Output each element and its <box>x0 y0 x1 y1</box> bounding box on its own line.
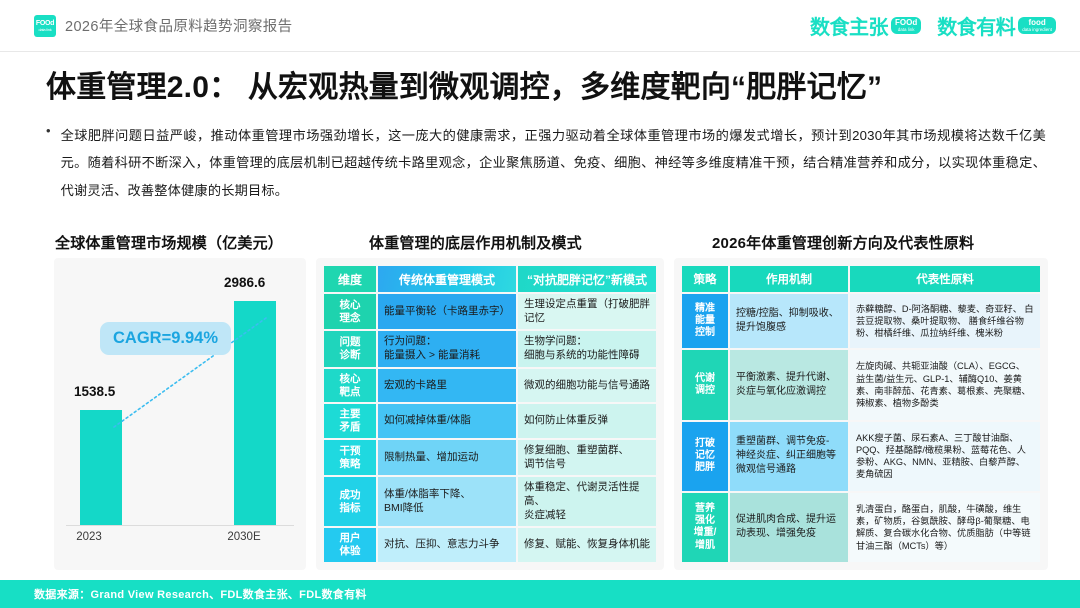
table-header-row: 策略 作用机制 代表性原料 <box>682 266 1040 292</box>
cell-mechanism: 重塑菌群、调节免疫-神经炎症、纠正细胞等微观信号通路 <box>730 422 848 491</box>
middle-table-section-title: 体重管理的底层作用机制及模式 <box>369 232 582 253</box>
col-header-mechanism: 作用机制 <box>730 266 848 292</box>
food-data-link-logo-icon: FOOd data link <box>34 15 56 37</box>
row-label-dimension: 主要矛盾 <box>324 404 376 438</box>
table-row: 问题诊断行为问题：能量摄入 > 能量消耗生物学问题：细胞与系统的功能性障碍 <box>324 331 656 366</box>
page-title: 体重管理2.0： 从宏观热量到微观调控，多维度靶向“肥胖记忆” <box>46 62 1046 106</box>
row-label-strategy: 打破记忆肥胖 <box>682 422 728 491</box>
mechanism-comparison-table: 维度 传统体重管理模式 “对抗肥胖记忆”新模式 核心理念能量平衡轮（卡路里赤字）… <box>322 264 658 564</box>
cell-new-mode: 体重稳定、代谢灵活性提高、炎症减轻 <box>518 477 656 526</box>
table-row: 打破记忆肥胖重塑菌群、调节免疫-神经炎症、纠正细胞等微观信号通路AKK瘦子菌、尿… <box>682 422 1040 491</box>
row-label-dimension: 用户体验 <box>324 528 376 562</box>
table-row: 营养强化增重/增肌促进肌肉合成、提升运动表现、增强免疫乳清蛋白，酪蛋白，肌酸，牛… <box>682 493 1040 562</box>
brand2-badge-icon: food data ingredient <box>1018 17 1056 35</box>
brand-left: FOOd data link 2026年全球食品原料趋势洞察报告 <box>34 15 293 37</box>
col-header-new-mode: “对抗肥胖记忆”新模式 <box>518 266 656 292</box>
bullet-marker: • <box>46 122 51 204</box>
bar-2030e <box>234 301 276 525</box>
row-label-dimension: 核心靶点 <box>324 369 376 403</box>
row-label-strategy: 精准能量控制 <box>682 294 728 348</box>
mechanism-comparison-table-panel: 维度 传统体重管理模式 “对抗肥胖记忆”新模式 核心理念能量平衡轮（卡路里赤字）… <box>316 258 664 570</box>
cell-traditional-mode: 对抗、压抑、意志力斗争 <box>378 528 516 562</box>
cell-traditional-mode: 体重/体脂率下降、BMI降低 <box>378 477 516 526</box>
table-row: 主要矛盾如何减掉体重/体脂如何防止体重反弹 <box>324 404 656 438</box>
table-row: 成功指标体重/体脂率下降、BMI降低体重稳定、代谢灵活性提高、炎症减轻 <box>324 477 656 526</box>
col-header-traditional: 传统体重管理模式 <box>378 266 516 292</box>
x-axis-line <box>66 525 294 526</box>
chart-section-title: 全球体重管理市场规模（亿美元） <box>55 232 283 253</box>
cagr-annotation-badge: CAGR=9.94% <box>100 322 231 355</box>
top-bar: FOOd data link 2026年全球食品原料趋势洞察报告 数食主张 FO… <box>0 0 1080 52</box>
cell-mechanism: 平衡激素、提升代谢、炎症与氧化应激调控 <box>730 350 848 419</box>
brand1-badge-icon: FOOd data link <box>891 17 921 35</box>
row-label-strategy: 代谢调控 <box>682 350 728 419</box>
cell-new-mode: 微观的细胞功能与信号通路 <box>518 369 656 403</box>
cell-new-mode: 如何防止体重反弹 <box>518 404 656 438</box>
bar-value-label-2023: 1538.5 <box>74 384 115 399</box>
brand2-text: 数食有料 <box>937 11 1015 40</box>
cell-traditional-mode: 能量平衡轮（卡路里赤字） <box>378 294 516 329</box>
chart-plot-area: 1538.5 2986.6 CAGR=9.94% <box>66 270 294 525</box>
cell-traditional-mode: 限制热量、增加运动 <box>378 440 516 475</box>
cell-ingredients: 左旋肉碱、共轭亚油酸（CLA）、EGCG、益生菌/益生元、GLP-1、辅酶Q10… <box>850 350 1040 419</box>
cell-mechanism: 促进肌肉合成、提升运动表现、增强免疫 <box>730 493 848 562</box>
cell-traditional-mode: 宏观的卡路里 <box>378 369 516 403</box>
cell-mechanism: 控糖/控脂、抑制吸收、提升饱腹感 <box>730 294 848 348</box>
data-source-text: 数据来源：Grand View Research、FDL数食主张、FDL数食有料 <box>34 586 367 602</box>
footer-bar: 数据来源：Grand View Research、FDL数食主张、FDL数食有料 <box>0 580 1080 608</box>
cell-new-mode: 修复细胞、重塑菌群、调节信号 <box>518 440 656 475</box>
col-header-ingredients: 代表性原料 <box>850 266 1040 292</box>
table-row: 干预策略限制热量、增加运动修复细胞、重塑菌群、调节信号 <box>324 440 656 475</box>
intro-block: • 全球肥胖问题日益严峻，推动体重管理市场强劲增长，这一庞大的健康需求，正强力驱… <box>46 122 1046 204</box>
x-tick-2030e: 2030E <box>220 531 268 543</box>
table-header-row: 维度 传统体重管理模式 “对抗肥胖记忆”新模式 <box>324 266 656 292</box>
row-label-dimension: 干预策略 <box>324 440 376 475</box>
right-table-section-title: 2026年体重管理创新方向及代表性原料 <box>712 232 974 253</box>
col-header-strategy: 策略 <box>682 266 728 292</box>
table-row: 代谢调控平衡激素、提升代谢、炎症与氧化应激调控左旋肉碱、共轭亚油酸（CLA）、E… <box>682 350 1040 419</box>
bar-value-label-2030e: 2986.6 <box>224 275 265 290</box>
brand1-text: 数食主张 <box>810 11 888 40</box>
report-title: 2026年全球食品原料趋势洞察报告 <box>65 15 293 36</box>
row-label-strategy: 营养强化增重/增肌 <box>682 493 728 562</box>
brand2-badge-line2: data ingredient <box>1022 28 1052 33</box>
row-label-dimension: 成功指标 <box>324 477 376 526</box>
cell-new-mode: 生理设定点重置（打破肥胖记忆 <box>518 294 656 329</box>
innovation-directions-table: 策略 作用机制 代表性原料 精准能量控制控糖/控脂、抑制吸收、提升饱腹感赤藓糖醇… <box>680 264 1042 564</box>
cell-ingredients: 乳清蛋白，酪蛋白，肌酸，牛磺酸，维生素，矿物质，谷氨酰胺、酵母β-葡聚糖、电解质… <box>850 493 1040 562</box>
table-row: 用户体验对抗、压抑、意志力斗争修复、赋能、恢复身体机能 <box>324 528 656 562</box>
cell-new-mode: 生物学问题：细胞与系统的功能性障碍 <box>518 331 656 366</box>
cell-new-mode: 修复、赋能、恢复身体机能 <box>518 528 656 562</box>
col-header-dimension: 维度 <box>324 266 376 292</box>
logo-badge-line1: FOOd <box>36 20 54 27</box>
cell-traditional-mode: 行为问题：能量摄入 > 能量消耗 <box>378 331 516 366</box>
brand-shushizhuzhang: 数食主张 FOOd data link <box>810 11 921 40</box>
row-label-dimension: 核心理念 <box>324 294 376 329</box>
x-tick-2023: 2023 <box>66 531 112 543</box>
bar-2023 <box>80 410 122 525</box>
table-row: 核心靶点宏观的卡路里微观的细胞功能与信号通路 <box>324 369 656 403</box>
brand1-badge-line1: FOOd <box>895 19 917 27</box>
brand2-badge-line1: food <box>1028 19 1045 27</box>
table-row: 精准能量控制控糖/控脂、抑制吸收、提升饱腹感赤藓糖醇、D-阿洛酮糖、藜麦、奇亚籽… <box>682 294 1040 348</box>
logo-badge-line2: data link <box>38 28 51 32</box>
brand1-badge-line2: data link <box>898 28 915 33</box>
intro-paragraph: 全球肥胖问题日益严峻，推动体重管理市场强劲增长，这一庞大的健康需求，正强力驱动着… <box>61 122 1046 204</box>
row-label-dimension: 问题诊断 <box>324 331 376 366</box>
cell-traditional-mode: 如何减掉体重/体脂 <box>378 404 516 438</box>
market-size-bar-chart: 1538.5 2986.6 CAGR=9.94% 2023 2030E <box>54 258 306 570</box>
table-row: 核心理念能量平衡轮（卡路里赤字）生理设定点重置（打破肥胖记忆 <box>324 294 656 329</box>
cell-ingredients: AKK瘦子菌、尿石素A、三丁酸甘油酯、PQQ、羟基酪醇/橄榄果粉、蓝莓花色、人参… <box>850 422 1040 491</box>
innovation-directions-table-panel: 策略 作用机制 代表性原料 精准能量控制控糖/控脂、抑制吸收、提升饱腹感赤藓糖醇… <box>674 258 1048 570</box>
cell-ingredients: 赤藓糖醇、D-阿洛酮糖、藜麦、奇亚籽、 白芸豆提取物、桑叶提取物、 膳食纤维谷物… <box>850 294 1040 348</box>
brand-shushiyouliao: 数食有料 food data ingredient <box>937 11 1056 40</box>
brand-right: 数食主张 FOOd data link 数食有料 food data ingre… <box>810 11 1056 40</box>
